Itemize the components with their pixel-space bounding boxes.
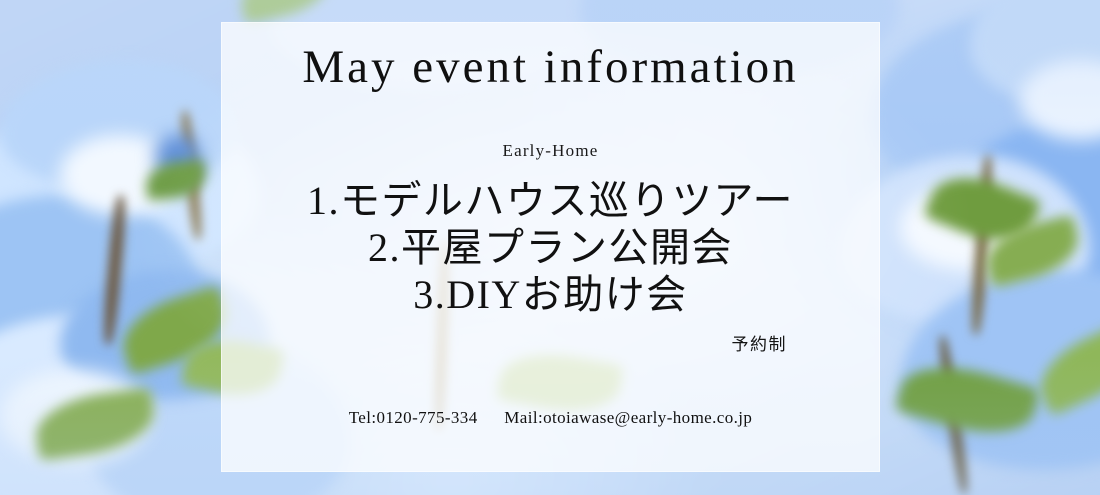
- list-item: 1.モデルハウス巡りツアー: [221, 177, 880, 224]
- contact-line: Tel:0120-775-334 Mail:otoiawase@early-ho…: [221, 408, 880, 428]
- event-list: 1.モデルハウス巡りツアー 2.平屋プラン公開会 3.DIYお助け会: [221, 177, 880, 318]
- list-item: 3.DIYお助け会: [221, 271, 880, 318]
- reservation-note: 予約制: [732, 330, 788, 355]
- event-poster: May event information Early-Home 1.モデルハウ…: [0, 0, 1100, 495]
- contact-telephone: Tel:0120-775-334: [349, 408, 478, 427]
- list-item: 2.平屋プラン公開会: [221, 224, 880, 271]
- brand-name: Early-Home: [221, 141, 880, 161]
- poster-content: May event information Early-Home 1.モデルハウ…: [221, 22, 880, 472]
- page-title: May event information: [221, 42, 880, 94]
- contact-email: Mail:otoiawase@early-home.co.jp: [504, 408, 752, 427]
